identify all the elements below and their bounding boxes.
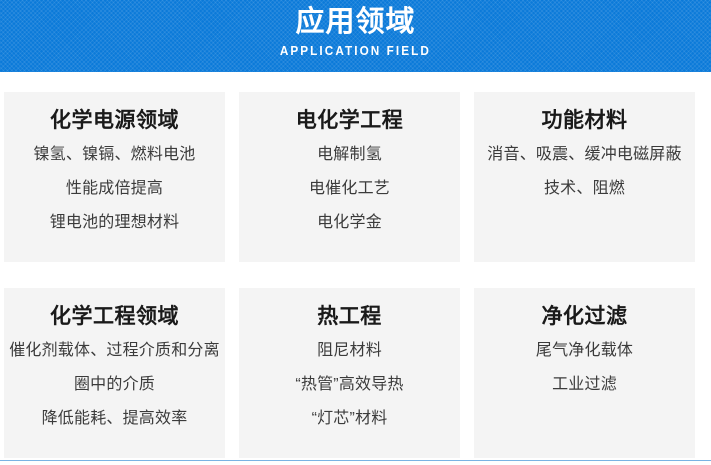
card-line: 锂电池的理想材料	[50, 211, 180, 234]
card-line: 电催化工艺	[309, 177, 390, 200]
banner-title: 应用领域	[295, 5, 415, 39]
application-card: 功能材料 消音、吸震、缓冲电磁屏蔽 技术、阻燃	[474, 92, 695, 262]
card-line: 工业过滤	[552, 373, 617, 396]
bottom-divider	[0, 460, 711, 461]
card-line: 技术、阻燃	[544, 177, 625, 200]
card-line: 电化学金	[317, 211, 382, 234]
card-line: “热管”高效导热	[295, 373, 403, 396]
card-line: 尾气净化载体	[536, 339, 633, 362]
card-title: 化学电源领域	[50, 106, 179, 136]
card-line: “灯芯”材料	[312, 407, 388, 430]
card-line: 消音、吸震、缓冲电磁屏蔽	[487, 143, 681, 166]
application-card: 净化过滤 尾气净化载体 工业过滤	[474, 288, 695, 458]
application-card: 热工程 阻尼材料 “热管”高效导热 “灯芯”材料	[239, 288, 460, 458]
card-line: 催化剂载体、过程介质和分离	[9, 339, 220, 362]
application-card: 化学工程领域 催化剂载体、过程介质和分离 圈中的介质 降低能耗、提高效率	[4, 288, 225, 458]
card-title: 净化过滤	[542, 302, 628, 332]
application-card: 电化学工程 电解制氢 电催化工艺 电化学金	[239, 92, 460, 262]
card-line: 阻尼材料	[317, 339, 382, 362]
card-line: 降低能耗、提高效率	[42, 407, 188, 430]
card-line: 镍氢、镍镉、燃料电池	[33, 143, 195, 166]
card-title: 化学工程领域	[50, 302, 179, 332]
card-title: 功能材料	[542, 106, 628, 136]
section-banner: 应用领域 APPLICATION FIELD	[0, 0, 711, 72]
banner-subtitle: APPLICATION FIELD	[280, 43, 431, 59]
card-line: 电解制氢	[317, 143, 382, 166]
card-line: 性能成倍提高	[66, 177, 163, 200]
card-line: 圈中的介质	[74, 373, 155, 396]
application-cards-grid: 化学电源领域 镍氢、镍镉、燃料电池 性能成倍提高 锂电池的理想材料 电化学工程 …	[0, 92, 711, 458]
application-card: 化学电源领域 镍氢、镍镉、燃料电池 性能成倍提高 锂电池的理想材料	[4, 92, 225, 262]
card-title: 电化学工程	[296, 106, 404, 136]
application-field-section: 应用领域 APPLICATION FIELD 化学电源领域 镍氢、镍镉、燃料电池…	[0, 0, 711, 465]
card-title: 热工程	[317, 302, 382, 332]
